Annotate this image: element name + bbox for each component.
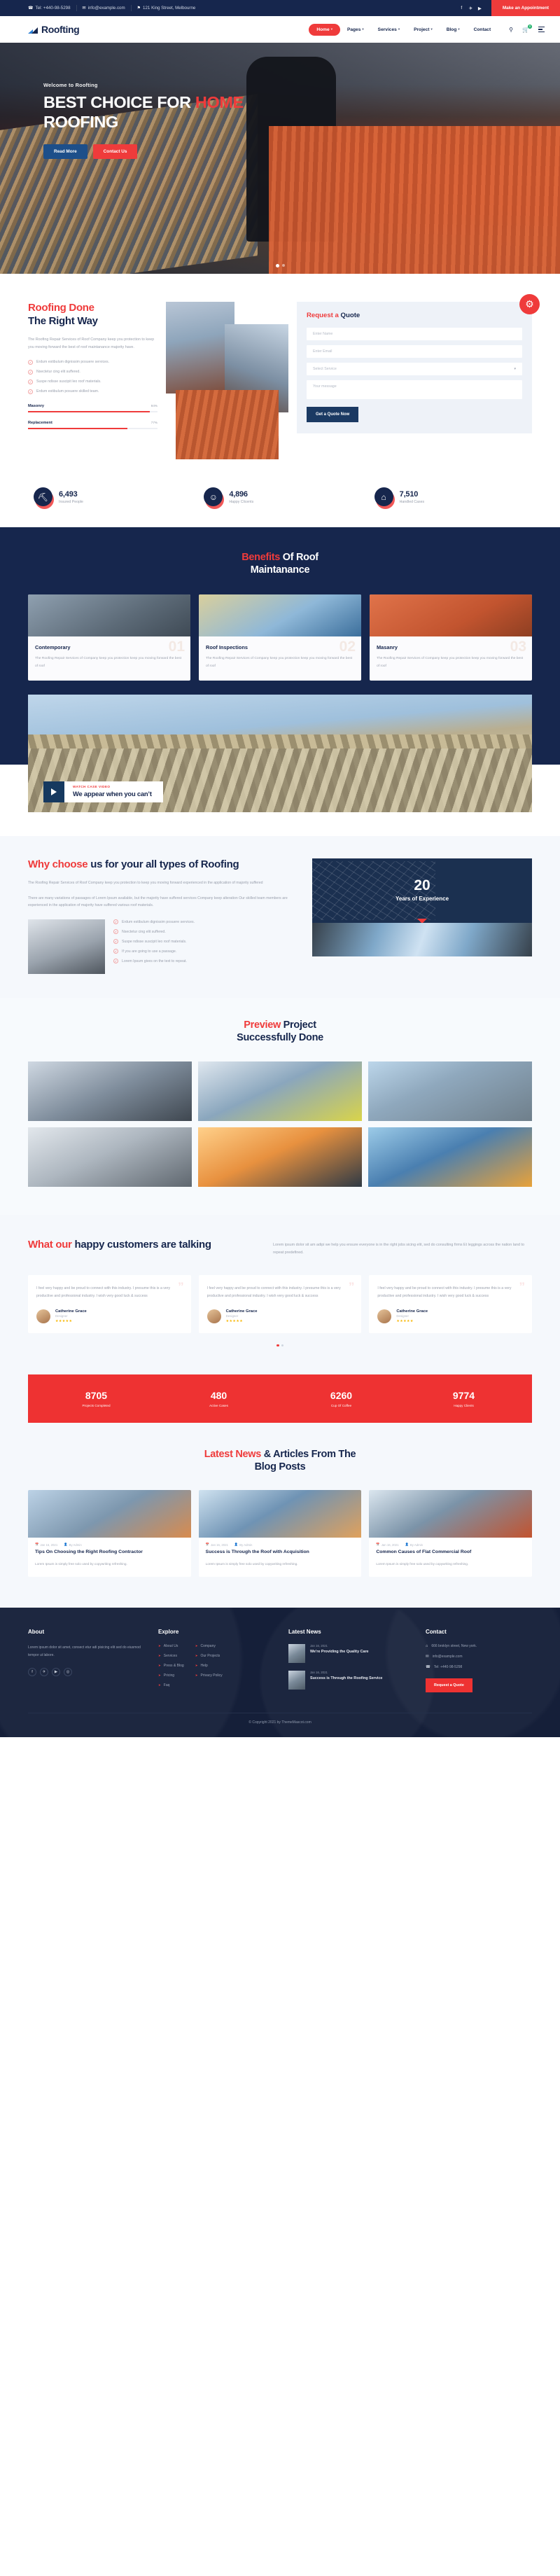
- youtube-icon[interactable]: ▶: [52, 1668, 60, 1676]
- blog-date: 📅Jan 16, 2021: [376, 1543, 398, 1547]
- blog-heading-red: Latest News: [204, 1449, 261, 1460]
- testimonial-card: ” I feel very happy and be proud to conn…: [199, 1275, 362, 1333]
- blog-heading-line2: Blog Posts: [255, 1461, 306, 1473]
- blog-date: 📅Jan 16, 2021: [206, 1543, 228, 1547]
- experience-number: 20: [414, 878, 430, 893]
- quote-heading-dark: Quote: [339, 312, 360, 319]
- footer-news-col: Latest News Jan 16, 2021 We're Providing…: [288, 1629, 414, 1697]
- why-paragraph-2: There are many variations of passages of…: [28, 895, 301, 910]
- blog-cards: 📅Jan 16, 2021 👤By Admin Tips On Choosing…: [28, 1490, 532, 1577]
- footer-link-company[interactable]: ➤Company: [195, 1644, 223, 1648]
- testimonials-heading: What our happy customers are talking: [28, 1239, 252, 1252]
- projects-header: Preview Project Successfully Done: [28, 1019, 532, 1044]
- project-tile-2[interactable]: [198, 1061, 362, 1121]
- blog-image: [369, 1490, 532, 1538]
- divider: [131, 5, 132, 11]
- landing-page: ☎ Tel: +440-98-5298 ✉ info@example.com ⚑…: [0, 0, 560, 1737]
- benefit-image: [370, 594, 532, 636]
- chevron-right-icon: ➤: [158, 1683, 161, 1687]
- video-headline: We appear when you can’t: [73, 790, 152, 798]
- testimonials-intro: Lorem ipsum dolor sit am adipi we help y…: [273, 1241, 532, 1257]
- benefit-text: The Roofing Repair Services of Company k…: [35, 655, 183, 670]
- testimonial-role: Designer: [396, 1314, 428, 1318]
- testimonials-heading-red: What our: [28, 1239, 72, 1251]
- footer-contact-heading: Contact: [426, 1629, 532, 1635]
- nav-item-project[interactable]: Project ▾: [407, 27, 440, 32]
- project-tile-5[interactable]: [198, 1127, 362, 1187]
- tick-label: Nsectetur cing elit suffered.: [36, 370, 80, 374]
- hero-title-part1: BEST CHOICE FOR: [43, 93, 195, 111]
- chevron-right-icon: ➤: [158, 1654, 161, 1658]
- video-kicker: WATCH CASE VIDEO: [73, 785, 152, 788]
- tick-label: Suspe ndisse suscipit leo roof materials…: [122, 940, 187, 944]
- slider-dot-2[interactable]: [282, 264, 285, 267]
- news-date: Jan 16, 2021: [310, 1671, 382, 1674]
- experience-card: 20 Years of Experience: [312, 858, 532, 975]
- why-choose-section: Why choose us for your all types of Roof…: [0, 836, 560, 998]
- list-item: ✓Lorem Ipsum gives on the text to repeat…: [113, 959, 301, 963]
- counter-label: Active Cases: [157, 1404, 280, 1407]
- stat-number: 7,510: [400, 490, 424, 499]
- check-circle-icon: ✓: [113, 959, 118, 963]
- chevron-down-icon: ▾: [458, 27, 459, 32]
- calendar-icon: 📅: [35, 1543, 38, 1547]
- projects-heading-dark: Project: [281, 1019, 316, 1031]
- chevron-down-icon: ▾: [398, 27, 400, 32]
- hero-title-highlight: HOME: [195, 93, 244, 111]
- skill-label: Masonry: [28, 404, 44, 408]
- progress-track: [28, 411, 157, 412]
- site-footer: About Lorem ipsum dolor sit amet, consec…: [0, 1608, 560, 1737]
- benefit-card-roof-inspections[interactable]: 02 Roof Inspections The Roofing Repair S…: [199, 594, 361, 681]
- footer-contact-col: Contact ⌂ 666 broklyn street, New york. …: [426, 1629, 532, 1697]
- nav-tools: ⚲ 🛒 0: [509, 27, 545, 33]
- video-section: WATCH CASE VIDEO We appear when you can’…: [0, 695, 560, 836]
- nav-item-services[interactable]: Services ▾: [371, 27, 407, 32]
- topbar-email[interactable]: ✉ info@example.com: [83, 6, 125, 11]
- counter-label: Cup Of Coffee: [280, 1404, 402, 1407]
- brand-name: Roofting: [41, 24, 79, 35]
- red-counter-bar: 8705 Projects Completed 480 Active Cases…: [28, 1374, 532, 1423]
- footer-address-text: 666 broklyn street, New york.: [431, 1644, 477, 1648]
- blog-section: Latest News & Articles From The Blog Pos…: [0, 1423, 560, 1608]
- projects-heading-red: Preview: [244, 1019, 281, 1031]
- news-date: Jan 16, 2021: [310, 1644, 369, 1648]
- why-tick-list: ✓Erdum estibulum dignissim posuere servi…: [113, 919, 301, 974]
- topbar-address-text: 121 King Street, Melbourne: [143, 6, 195, 11]
- top-bar: ☎ Tel: +440-98-5298 ✉ info@example.com ⚑…: [0, 0, 560, 16]
- list-item: ✓Suspe ndisse suscipit leo roof material…: [28, 380, 157, 384]
- email-field[interactable]: Enter Email: [307, 345, 522, 358]
- stat-insured-people: ⛏ 6,493 Insured People: [34, 487, 185, 506]
- blog-excerpt: Lorem Ipsum is simply free solo used by …: [35, 1561, 184, 1568]
- read-more-button[interactable]: Read More: [43, 144, 87, 159]
- brand-logo[interactable]: Roofting: [28, 24, 79, 35]
- footer-link-our-projects[interactable]: ➤Our Projects: [195, 1654, 223, 1658]
- nav-item-home[interactable]: Home ▾: [309, 24, 340, 36]
- chevron-right-icon: ➤: [195, 1673, 198, 1678]
- chevron-down-icon: ▾: [514, 367, 516, 371]
- chevron-right-icon: ➤: [195, 1654, 198, 1658]
- check-circle-icon: ✓: [28, 370, 33, 375]
- quote-heading-red: Request a: [307, 312, 339, 319]
- progress-fill: [28, 411, 150, 412]
- about-heading-dark: The Right Way: [28, 315, 98, 327]
- footer-address: ⌂ 666 broklyn street, New york.: [426, 1644, 532, 1648]
- news-thumbnail: [288, 1644, 305, 1663]
- counter-cup-of-coffee: 6260 Cup Of Coffee: [280, 1390, 402, 1407]
- hero-content: Welcome to Roofting BEST CHOICE FOR HOME…: [0, 43, 560, 159]
- footer-email-text: info@example.com: [433, 1655, 463, 1659]
- play-icon[interactable]: [43, 781, 64, 802]
- about-heading-red: Roofing Done: [28, 302, 94, 314]
- mail-icon: ✉: [83, 6, 86, 11]
- footer-link-services[interactable]: ➤Services: [158, 1654, 184, 1658]
- testimonial-role: Designer: [226, 1314, 258, 1318]
- project-tile-6[interactable]: [368, 1127, 532, 1187]
- testimonial-name: Catherine Grace: [396, 1309, 428, 1314]
- rating-stars: ★★★★★: [55, 1319, 87, 1323]
- project-tile-4[interactable]: [28, 1127, 192, 1187]
- phone-icon: ☎: [28, 6, 33, 11]
- testimonials-header: What our happy customers are talking Lor…: [28, 1239, 532, 1257]
- footer-link-pricing[interactable]: ➤Pricing: [158, 1673, 184, 1678]
- blog-header: Latest News & Articles From The Blog Pos…: [28, 1448, 532, 1473]
- divider: [76, 5, 77, 11]
- footer-link-about-us[interactable]: ➤About Us: [158, 1644, 184, 1648]
- topbar-phone-text: Tel: +440-98-5298: [35, 6, 70, 11]
- tick-label: Suspe ndisse suscipit leo roof materials…: [36, 380, 101, 384]
- stat-label: Happy Clicents: [229, 500, 253, 504]
- stats-row: ⛏ 6,493 Insured People ☺ 4,896 Happy Cli…: [0, 478, 560, 527]
- avatar: [207, 1309, 221, 1323]
- quote-form-col: ⚙ Request a Quote Enter Name Enter Email…: [297, 302, 532, 459]
- name-placeholder: Enter Name: [313, 332, 332, 336]
- testimonial-dot-2[interactable]: [281, 1344, 284, 1347]
- copyright-text: © Copyright 2021 by ThemeMascot.com: [28, 1720, 532, 1725]
- footer-about-heading: About: [28, 1629, 147, 1635]
- footer-news-item[interactable]: Jan 16, 2021 We're Providing the Quality…: [288, 1644, 414, 1663]
- about-heading: Roofing Done The Right Way: [28, 302, 157, 328]
- footer-about-text: Lorem ipsum dolor sit amet, consect etur…: [28, 1644, 147, 1659]
- tick-label: Erdum estibulum dignissim posuere servic…: [122, 920, 195, 924]
- twitter-icon[interactable]: ✈: [466, 4, 475, 13]
- project-tile-3[interactable]: [368, 1061, 532, 1121]
- tick-label: Erdum estibulum posuere skilled team.: [36, 389, 99, 394]
- experience-photo: [312, 923, 532, 956]
- footer-link-help[interactable]: ➤Help: [195, 1664, 223, 1668]
- chevron-right-icon: ➤: [195, 1644, 198, 1648]
- youtube-icon[interactable]: ▶: [475, 4, 484, 13]
- benefits-heading-line2: Maintanance: [251, 564, 310, 576]
- benefit-image: [28, 594, 190, 636]
- benefit-text: The Roofing Repair Services of Company k…: [377, 655, 525, 670]
- list-item: ✓Nsectetur cing elit suffered.: [28, 370, 157, 375]
- footer-news-item[interactable]: Jan 16, 2021 Success is Through the Roof…: [288, 1671, 414, 1690]
- about-paragraph: The Roofing Repair Services of Roof Comp…: [28, 336, 157, 351]
- benefit-card-contemporary[interactable]: 01 Contemporary The Roofing Repair Servi…: [28, 594, 190, 681]
- testimonial-dots[interactable]: [28, 1344, 532, 1347]
- phone-icon: ☎: [426, 1665, 430, 1669]
- testimonial-card: ” I feel very happy and be proud to conn…: [28, 1275, 191, 1333]
- blog-author: 👤By Admin: [234, 1543, 253, 1547]
- footer-link-faq[interactable]: ➤Faq: [158, 1683, 184, 1687]
- hero-title: BEST CHOICE FOR HOME ROOFING: [43, 93, 560, 132]
- benefit-title: Roof Inspections: [206, 644, 354, 650]
- user-icon: 👤: [64, 1543, 67, 1547]
- projects-section: Preview Project Successfully Done: [0, 998, 560, 1214]
- triangle-icon: [417, 919, 427, 923]
- avatar: [377, 1309, 391, 1323]
- why-heading: Why choose us for your all types of Roof…: [28, 858, 301, 872]
- blog-image: [199, 1490, 362, 1538]
- footer-divider: [28, 1713, 532, 1713]
- progress-fill: [28, 428, 127, 429]
- cart-count-badge: 0: [528, 25, 532, 29]
- footer-link-press-blog[interactable]: ➤Press & Blog: [158, 1664, 184, 1668]
- message-placeholder: Your message: [313, 384, 337, 389]
- testimonial-role: Designer: [55, 1314, 87, 1318]
- twitter-icon[interactable]: ✈: [40, 1668, 48, 1676]
- blog-image: [28, 1490, 191, 1538]
- counter-projects-completed: 8705 Projects Completed: [35, 1390, 157, 1407]
- why-heading-red: Why choose: [28, 858, 87, 870]
- experience-top: 20 Years of Experience: [312, 858, 532, 923]
- benefit-text: The Roofing Repair Services of Company k…: [206, 655, 354, 670]
- user-icon: 👤: [234, 1543, 238, 1547]
- calendar-icon: 📅: [206, 1543, 209, 1547]
- contact-us-button[interactable]: Contact Us: [93, 144, 138, 159]
- check-circle-icon: ✓: [113, 929, 118, 934]
- main-navbar: Roofting Home ▾ Pages ▾ Services ▾ Proje…: [0, 16, 560, 43]
- about-section: Roofing Done The Right Way The Roofing R…: [0, 274, 560, 478]
- footer-explore-list-1: ➤About Us ➤Services ➤Press & Blog ➤Prici…: [158, 1644, 184, 1687]
- footer-explore-list-2: ➤Company ➤Our Projects ➤Help ➤Privacy Po…: [195, 1644, 223, 1687]
- blog-excerpt: Lorem Ipsum is simply free solo used by …: [376, 1561, 525, 1568]
- check-circle-icon: ✓: [28, 380, 33, 384]
- cart-icon[interactable]: 🛒 0: [522, 27, 529, 33]
- chevron-down-icon: ▾: [430, 27, 432, 32]
- skill-bars: Masonry 94% Replacement 77%: [28, 404, 157, 429]
- search-icon[interactable]: ⚲: [509, 27, 513, 33]
- helmet-person-icon: ☺: [204, 487, 223, 506]
- email-placeholder: Enter Email: [313, 349, 332, 354]
- topbar-email-text: info@example.com: [88, 6, 125, 11]
- list-item: ✓Erdum estibulum posuere skilled team.: [28, 389, 157, 394]
- why-image: [28, 919, 105, 974]
- chevron-down-icon: ▾: [331, 27, 332, 32]
- testimonial-quote: I feel very happy and be proud to connec…: [207, 1285, 353, 1300]
- get-quote-button[interactable]: Get a Quote Now: [307, 407, 358, 422]
- blog-heading-dark: & Articles From The: [261, 1449, 356, 1460]
- about-image-col: [166, 302, 288, 459]
- testimonial-card: ” I feel very happy and be proud to conn…: [369, 1275, 532, 1333]
- nav-item-blog[interactable]: Blog ▾: [440, 27, 467, 32]
- benefit-title: Contemporary: [35, 644, 183, 650]
- nav-item-contact[interactable]: Contact: [467, 27, 498, 32]
- benefits-heading: Benefits Of Roof Maintanance: [28, 551, 532, 576]
- skill-replacement: Replacement 77%: [28, 421, 157, 429]
- footer-phone[interactable]: ☎ Tel: +440-98-5298: [426, 1665, 532, 1669]
- blog-card[interactable]: 📅Jan 16, 2021 👤By Admin Common Causes of…: [369, 1490, 532, 1577]
- testimonials-section: What our happy customers are talking Lor…: [0, 1215, 560, 1375]
- location-icon: ⌂: [426, 1644, 428, 1648]
- benefit-image: [199, 594, 361, 636]
- tick-label: Nsectetur cing elit suffered.: [122, 930, 166, 934]
- blog-author: 👤By Admin: [64, 1543, 82, 1547]
- counter-happy-clients: 9774 Happy Clients: [402, 1390, 525, 1407]
- footer-email[interactable]: ✉ info@example.com: [426, 1655, 532, 1659]
- benefit-cards: 01 Contemporary The Roofing Repair Servi…: [28, 594, 532, 681]
- footer-request-quote-button[interactable]: Request a Quote: [426, 1678, 472, 1692]
- benefits-heading-red: Benefits: [241, 552, 280, 563]
- blog-card[interactable]: 📅Jan 16, 2021 👤By Admin Success is Throu…: [199, 1490, 362, 1577]
- benefit-title: Masanry: [377, 644, 525, 650]
- why-heading-dark: us for your all types of Roofing: [87, 858, 239, 870]
- footer-about-col: About Lorem ipsum dolor sit amet, consec…: [28, 1629, 147, 1697]
- quote-heading: Request a Quote: [307, 312, 522, 319]
- news-thumbnail: [288, 1671, 305, 1690]
- roof-logo-icon: [28, 26, 38, 34]
- nav-label: Pages: [347, 27, 360, 32]
- footer-link-privacy-policy[interactable]: ➤Privacy Policy: [195, 1673, 223, 1678]
- list-item: ✓Erdum estibulum dignissim posuere servi…: [113, 919, 301, 924]
- stat-number: 6,493: [59, 490, 83, 499]
- counter-label: Happy Clients: [402, 1404, 525, 1407]
- slider-dot-1[interactable]: [276, 264, 279, 267]
- service-select[interactable]: Select Service ▾: [307, 363, 522, 375]
- house-hand-icon: ⌂: [374, 487, 393, 506]
- chevron-right-icon: ➤: [158, 1664, 161, 1668]
- about-image-tiles: [176, 390, 279, 459]
- blog-meta: 📅Jan 16, 2021 👤By Admin: [199, 1538, 362, 1547]
- projects-heading-line2: Successfully Done: [237, 1032, 323, 1043]
- request-quote-card: ⚙ Request a Quote Enter Name Enter Email…: [297, 302, 532, 433]
- testimonial-name: Catherine Grace: [55, 1309, 87, 1314]
- blog-meta: 📅Jan 16, 2021 👤By Admin: [28, 1538, 191, 1547]
- testimonials-heading-dark: happy customers are talking: [72, 1239, 211, 1251]
- message-field[interactable]: Your message: [307, 380, 522, 399]
- about-tick-list: ✓Erdum estibulum dignissim posuere servi…: [28, 360, 157, 394]
- footer-explore-heading: Explore: [158, 1629, 277, 1635]
- nav-item-pages[interactable]: Pages ▾: [340, 27, 371, 32]
- skill-label: Replacement: [28, 421, 52, 425]
- chevron-down-icon: ▾: [362, 27, 363, 32]
- counter-number: 9774: [402, 1390, 525, 1401]
- about-text-col: Roofing Done The Right Way The Roofing R…: [28, 302, 157, 459]
- chevron-right-icon: ➤: [158, 1673, 161, 1678]
- nav-label: Blog: [447, 27, 457, 32]
- hamburger-icon[interactable]: [538, 27, 545, 32]
- mail-icon: ✉: [426, 1655, 429, 1659]
- check-circle-icon: ✓: [28, 360, 33, 365]
- blog-title: Success is Through the Roof with Acquisi…: [206, 1549, 355, 1556]
- blog-date: 📅Jan 16, 2021: [35, 1543, 57, 1547]
- facebook-icon[interactable]: f: [457, 4, 466, 13]
- testimonial-cards: ” I feel very happy and be proud to conn…: [28, 1275, 532, 1333]
- testimonial-name: Catherine Grace: [226, 1309, 258, 1314]
- stat-handled-cases: ⌂ 7,510 Handled Cases: [374, 487, 526, 506]
- user-icon: 👤: [405, 1543, 409, 1547]
- counter-active-cases: 480 Active Cases: [157, 1390, 280, 1407]
- check-circle-icon: ✓: [113, 949, 118, 954]
- make-appointment-button[interactable]: Make an Appointment: [491, 0, 560, 16]
- video-text: WATCH CASE VIDEO We appear when you can’…: [64, 781, 163, 802]
- hero-title-part2: ROOFING: [43, 113, 118, 131]
- project-tile-1[interactable]: [28, 1061, 192, 1121]
- chevron-right-icon: ➤: [158, 1644, 161, 1648]
- rating-stars: ★★★★★: [226, 1319, 258, 1323]
- worker-icon: ⛏: [34, 487, 52, 506]
- nav-label: Project: [414, 27, 429, 32]
- chevron-right-icon: ➤: [195, 1664, 198, 1668]
- nav-menu: Home ▾ Pages ▾ Services ▾ Project ▾ Blog…: [309, 24, 545, 36]
- compass-icon: ⚙: [519, 294, 540, 314]
- testimonial-quote: I feel very happy and be proud to connec…: [36, 1285, 183, 1300]
- why-text-col: Why choose us for your all types of Roof…: [28, 858, 301, 975]
- video-callout: WATCH CASE VIDEO We appear when you can’…: [43, 781, 163, 802]
- footer-phone-text: Tel: +440-98-5298: [434, 1665, 462, 1669]
- projects-heading: Preview Project Successfully Done: [28, 1019, 532, 1044]
- topbar-right: f ✈ ▶ Make an Appointment: [457, 0, 560, 16]
- check-circle-icon: ✓: [28, 389, 33, 394]
- avatar: [36, 1309, 50, 1323]
- list-item: ✓Nsectetur cing elit suffered.: [113, 929, 301, 934]
- hero-eyebrow: Welcome to Roofting: [43, 82, 560, 88]
- hero-slider-dots[interactable]: [0, 264, 560, 267]
- topbar-phone[interactable]: ☎ Tel: +440-98-5298: [28, 6, 71, 11]
- skill-masonry: Masonry 94%: [28, 404, 157, 412]
- blog-card[interactable]: 📅Jan 16, 2021 👤By Admin Tips On Choosing…: [28, 1490, 191, 1577]
- red-counter-wrap: 8705 Projects Completed 480 Active Cases…: [0, 1374, 560, 1423]
- skill-value: 77%: [151, 421, 157, 425]
- footer-socials: f ✈ ▶ ◎: [28, 1668, 147, 1676]
- nav-label: Home: [316, 27, 329, 32]
- counter-label: Projects Completed: [35, 1404, 157, 1407]
- testimonial-quote: I feel very happy and be proud to connec…: [377, 1285, 524, 1300]
- tick-label: If you are going to use a passage.: [122, 949, 176, 954]
- tick-label: Lorem Ipsum gives on the text to repeat.: [122, 959, 187, 963]
- footer-explore-col: Explore ➤About Us ➤Services ➤Press & Blo…: [158, 1629, 277, 1697]
- skill-value: 94%: [151, 404, 157, 408]
- blog-author: 👤By Admin: [405, 1543, 423, 1547]
- check-circle-icon: ✓: [113, 939, 118, 944]
- name-field[interactable]: Enter Name: [307, 328, 522, 340]
- news-title: Success is Through the Roofing Service: [310, 1676, 382, 1682]
- check-circle-icon: ✓: [113, 919, 118, 924]
- blog-excerpt: Lorem Ipsum is simply free solo used by …: [206, 1561, 355, 1568]
- benefit-card-masanry[interactable]: 03 Masanry The Roofing Repair Services o…: [370, 594, 532, 681]
- benefits-heading-white: Of Roof: [280, 552, 318, 563]
- list-item: ✓Erdum estibulum dignissim posuere servi…: [28, 360, 157, 365]
- video-banner: WATCH CASE VIDEO We appear when you can’…: [28, 695, 532, 812]
- service-placeholder: Select Service: [313, 367, 337, 371]
- footer-news-heading: Latest News: [288, 1629, 414, 1635]
- progress-track: [28, 428, 157, 429]
- testimonial-dot-1[interactable]: [276, 1344, 279, 1347]
- hero-slider: Welcome to Roofting BEST CHOICE FOR HOME…: [0, 43, 560, 274]
- instagram-icon[interactable]: ◎: [64, 1668, 72, 1676]
- facebook-icon[interactable]: f: [28, 1668, 36, 1676]
- stat-happy-clients: ☺ 4,896 Happy Clicents: [204, 487, 356, 506]
- blog-title: Common Causes of Flat Commercial Roof: [376, 1549, 525, 1556]
- stat-number: 4,896: [229, 490, 253, 499]
- counter-number: 6260: [280, 1390, 402, 1401]
- stat-label: Handled Cases: [400, 500, 424, 504]
- blog-title: Tips On Choosing the Right Roofing Contr…: [35, 1549, 184, 1556]
- why-paragraph-1: The Roofing Repair Services of Roof Comp…: [28, 879, 301, 887]
- map-marker-icon: ⚑: [137, 6, 141, 11]
